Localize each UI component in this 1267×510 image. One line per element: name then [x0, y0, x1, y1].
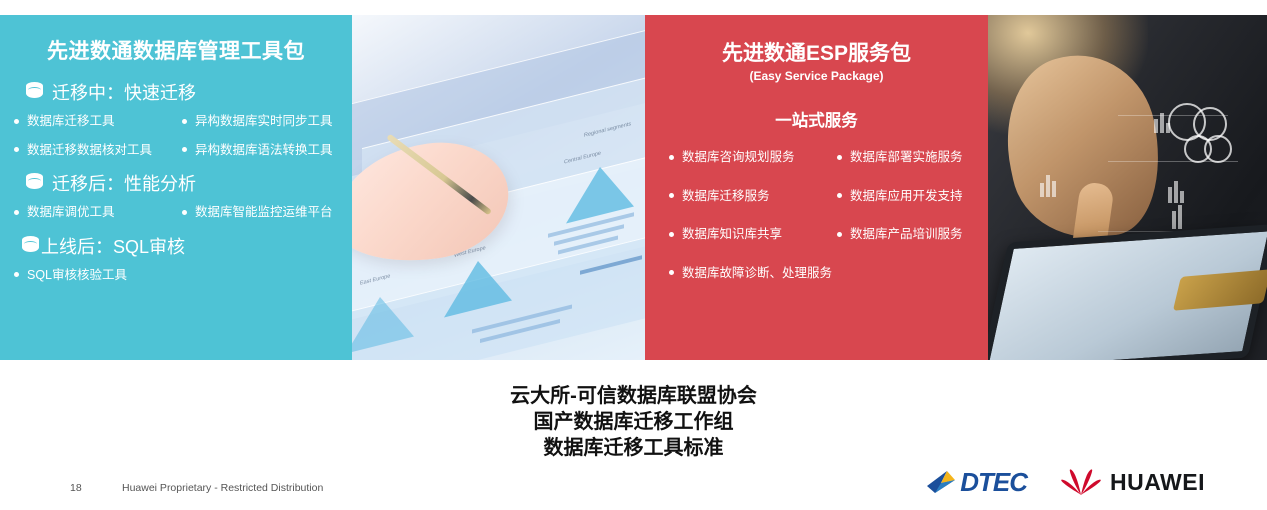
logo-group: DTEC HUAWEI	[925, 468, 1205, 496]
list-item-label: 数据库知识库共享	[682, 228, 782, 241]
caption-block: 云大所-可信数据库联盟协会 国产数据库迁移工作组 数据库迁移工具标准	[0, 383, 1267, 461]
holo-bar-icon	[1154, 119, 1158, 133]
bullet-dot-icon	[669, 232, 674, 237]
caption-line-3: 数据库迁移工具标准	[0, 435, 1267, 461]
holo-bar-icon	[1180, 191, 1184, 203]
section-heading-migrating: 迁移中：快速迁移	[26, 79, 340, 105]
holo-bar-icon	[1172, 211, 1176, 229]
list-item-label: SQL审核核验工具	[27, 269, 127, 282]
database-icon	[26, 173, 43, 193]
bullet-dot-icon	[669, 155, 674, 160]
bullet-dot-icon	[837, 232, 842, 237]
bullet-dot-icon	[14, 210, 19, 215]
bullet-dot-icon	[669, 193, 674, 198]
dtec-logo-text: DTEC	[960, 469, 1027, 495]
holo-line	[1118, 115, 1228, 116]
list-item: 异构数据库实时同步工具	[182, 115, 362, 128]
list-item-label: 数据库调优工具	[27, 206, 115, 219]
section-heading-after-golive: 上线后：SQL审核	[22, 233, 340, 259]
page-number: 18	[70, 482, 82, 494]
list-item-label: 异构数据库实时同步工具	[195, 115, 333, 128]
list-item-label: 数据库部署实施服务	[850, 151, 963, 164]
huawei-logo: HUAWEI	[1061, 468, 1205, 496]
bullet-list-after-migration: 数据库调优工具 数据库智能监控运维平台	[14, 206, 340, 219]
confidentiality-notice: Huawei Proprietary - Restricted Distribu…	[122, 482, 323, 494]
list-item: 数据库咨询规划服务	[669, 151, 837, 164]
huawei-logo-text: HUAWEI	[1110, 471, 1205, 494]
list-item-label: 数据迁移数据核对工具	[27, 144, 152, 157]
bullet-dot-icon	[14, 147, 19, 152]
list-item: 数据库应用开发支持	[837, 190, 997, 203]
left-product-panel: 先进数通数据库管理工具包 迁移中：快速迁移 数据库迁移工具 异构数据库实时同步工…	[0, 15, 352, 360]
holo-line	[1108, 161, 1238, 162]
section-heading-after-migration: 迁移后：性能分析	[26, 170, 340, 196]
right-panel-subtitle: (Easy Service Package)	[659, 69, 974, 83]
bullet-dot-icon	[14, 272, 19, 277]
center-photo: Regional segments Central Europe West Eu…	[352, 15, 645, 360]
list-item: 数据库部署实施服务	[837, 151, 997, 164]
database-icon	[22, 236, 39, 256]
bullet-dot-icon	[837, 193, 842, 198]
section-heading-label: 迁移中：快速迁移	[52, 79, 196, 105]
holo-bar-icon	[1046, 175, 1050, 197]
list-item: 数据迁移数据核对工具	[14, 144, 182, 157]
bullet-dot-icon	[837, 155, 842, 160]
holo-bar-icon	[1174, 181, 1178, 203]
holo-circle-icon	[1204, 135, 1232, 163]
holo-bar-icon	[1052, 181, 1056, 197]
holo-bar-icon	[1160, 113, 1164, 133]
bullet-dot-icon	[182, 210, 187, 215]
bullet-list-migrating: 数据库迁移工具 异构数据库实时同步工具 数据迁移数据核对工具 异构数据库语法转换…	[14, 115, 340, 156]
bullet-dot-icon	[182, 119, 187, 124]
database-icon	[26, 82, 43, 102]
service-bullet-grid: 数据库咨询规划服务 数据库部署实施服务 数据库迁移服务 数据库应用开发支持 数据…	[669, 151, 974, 241]
list-item: 数据库故障诊断、处理服务	[669, 267, 974, 280]
list-item: 数据库知识库共享	[669, 228, 837, 241]
huawei-flower-icon	[1061, 468, 1101, 496]
holo-bar-icon	[1168, 187, 1172, 203]
list-item-label: 数据库迁移服务	[682, 190, 770, 203]
right-photo	[988, 15, 1267, 360]
holo-bar-icon	[1178, 205, 1182, 229]
holo-bar-icon	[1040, 183, 1044, 197]
service-bullet-wide: 数据库故障诊断、处理服务	[669, 267, 974, 280]
list-item-label: 异构数据库语法转换工具	[195, 144, 333, 157]
list-item-label: 数据库咨询规划服务	[682, 151, 795, 164]
dtec-logo: DTEC	[925, 469, 1027, 495]
banner-strip: 先进数通数据库管理工具包 迁移中：快速迁移 数据库迁移工具 异构数据库实时同步工…	[0, 15, 1267, 360]
holo-bar-icon	[1166, 123, 1170, 133]
list-item-label: 数据库智能监控运维平台	[195, 206, 333, 219]
right-panel-title: 先进数通ESP服务包	[659, 37, 974, 67]
bullet-list-after-golive: SQL审核核验工具	[14, 269, 340, 282]
list-item: SQL审核核验工具	[14, 269, 354, 282]
list-item: 数据库调优工具	[14, 206, 182, 219]
list-item: 数据库迁移工具	[14, 115, 182, 128]
right-service-panel: 先进数通ESP服务包 (Easy Service Package) 一站式服务 …	[645, 15, 988, 360]
list-item-label: 数据库故障诊断、处理服务	[682, 267, 832, 280]
section-heading-label: 上线后：SQL审核	[41, 233, 185, 259]
left-panel-title: 先进数通数据库管理工具包	[12, 35, 340, 65]
bullet-dot-icon	[669, 270, 674, 275]
caption-line-1: 云大所-可信数据库联盟协会	[0, 383, 1267, 409]
section-heading-label: 迁移后：性能分析	[52, 170, 196, 196]
list-item: 异构数据库语法转换工具	[182, 144, 362, 157]
bullet-dot-icon	[182, 147, 187, 152]
list-item: 数据库迁移服务	[669, 190, 837, 203]
list-item-label: 数据库应用开发支持	[850, 190, 963, 203]
list-item-label: 数据库迁移工具	[27, 115, 115, 128]
caption-line-2: 国产数据库迁移工作组	[0, 409, 1267, 435]
list-item: 数据库产品培训服务	[837, 228, 997, 241]
dtec-arrow-icon	[925, 469, 959, 495]
right-panel-section-heading: 一站式服务	[659, 107, 974, 131]
bullet-dot-icon	[14, 119, 19, 124]
list-item-label: 数据库产品培训服务	[850, 228, 963, 241]
list-item: 数据库智能监控运维平台	[182, 206, 362, 219]
